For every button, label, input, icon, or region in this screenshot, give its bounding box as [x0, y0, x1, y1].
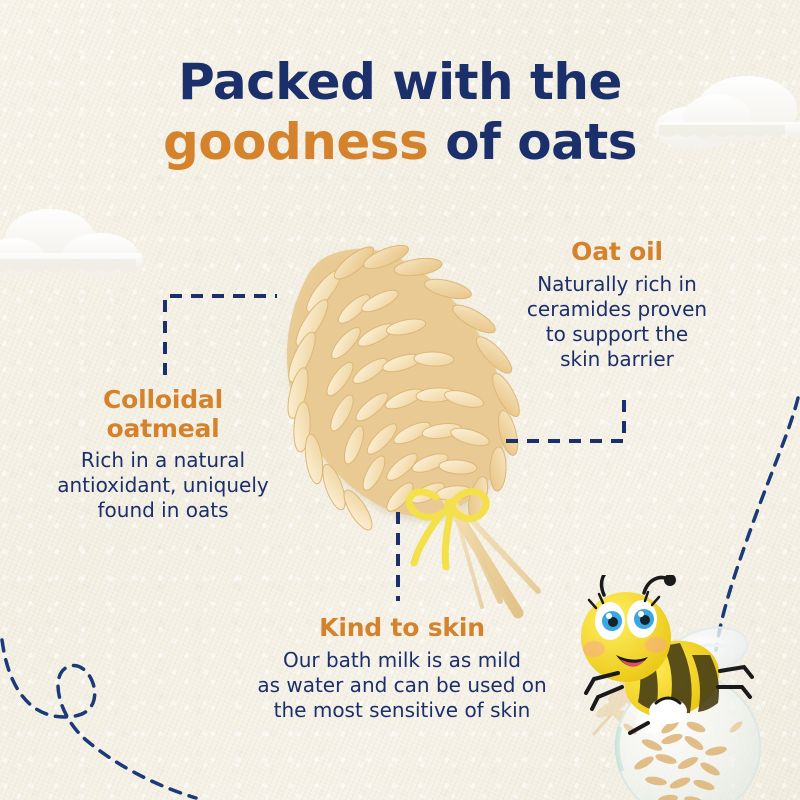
callout-colloidal-oatmeal: Colloidal oatmeal Rich in a natural anti… — [18, 386, 308, 524]
callout-oat-oil: Oat oil Naturally rich in ceramides prov… — [492, 238, 742, 372]
callout-oat-oil-body: Naturally rich in ceramides proven to su… — [492, 272, 742, 373]
bee-and-bubble-illustration — [560, 575, 800, 800]
bee-antennae-icon — [602, 575, 668, 595]
callout-oat-oil-heading: Oat oil — [492, 238, 742, 267]
body-line: the most sensitive of skin — [212, 698, 592, 723]
infographic-canvas: Packed with the goodness of oats — [0, 0, 800, 800]
title-line-1: Packed with the — [0, 52, 800, 112]
body-line: skin barrier — [492, 347, 742, 372]
dashed-loop-bottom-left — [2, 640, 196, 798]
callout-colloidal-body: Rich in a natural antioxidant, uniquely … — [18, 448, 308, 524]
heading-line: oatmeal — [18, 415, 308, 444]
title-line-2: goodness of oats — [0, 112, 800, 172]
title-goodness: goodness — [163, 113, 428, 171]
heading-line: Colloidal — [18, 386, 308, 415]
body-line: Rich in a natural — [18, 448, 308, 473]
page-title: Packed with the goodness of oats — [0, 52, 800, 172]
callout-kind-body: Our bath milk is as mild as water and ca… — [212, 648, 592, 724]
callout-kind-to-skin: Kind to skin Our bath milk is as mild as… — [212, 614, 592, 723]
body-line: ceramides proven — [492, 297, 742, 322]
body-line: to support the — [492, 322, 742, 347]
callout-kind-heading: Kind to skin — [212, 614, 592, 643]
body-line: as water and can be used on — [212, 673, 592, 698]
body-line: antioxidant, uniquely — [18, 473, 308, 498]
body-line: found in oats — [18, 498, 308, 523]
body-line: Naturally rich in — [492, 272, 742, 297]
callout-colloidal-heading: Colloidal oatmeal — [18, 386, 308, 443]
body-line: Our bath milk is as mild — [212, 648, 592, 673]
cloud-left-icon — [0, 195, 152, 300]
title-of-oats: of oats — [428, 113, 637, 171]
